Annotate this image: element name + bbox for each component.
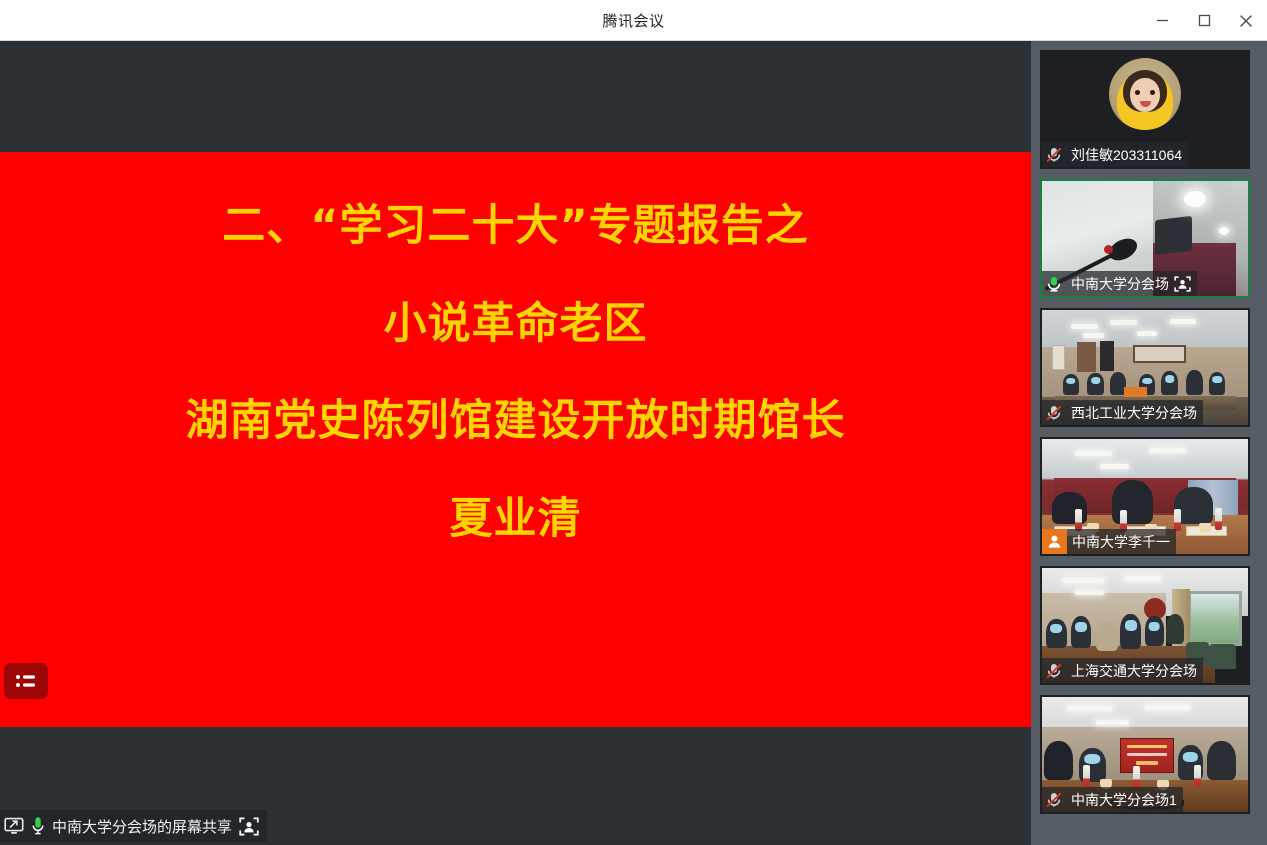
slide-line-1: 二、“学习二十大”专题报告之: [222, 204, 809, 250]
list-menu-icon: [15, 673, 37, 689]
mic-on-icon: [1042, 271, 1066, 296]
slide-line-2: 小说革命老区: [384, 302, 648, 348]
maximize-button[interactable]: [1183, 0, 1225, 41]
share-status-label: 中南大学分会场的屏幕共享: [52, 816, 232, 837]
person-badge-icon: [1042, 529, 1067, 554]
participant-tile[interactable]: 上海交通大学分会场: [1040, 566, 1250, 685]
close-button[interactable]: [1225, 0, 1267, 41]
participant-tile[interactable]: 中南大学分会场1: [1040, 695, 1250, 814]
participant-tile[interactable]: 西北工业大学分会场: [1040, 308, 1250, 427]
participant-name: 刘佳敏203311064: [1071, 145, 1182, 165]
mic-off-icon: [1042, 787, 1066, 812]
screen-share-icon: [4, 817, 24, 835]
participant-name-strip: 中南大学分会场1: [1042, 787, 1183, 812]
participant-name: 中南大学分会场: [1071, 274, 1169, 294]
avatar: [1109, 58, 1181, 130]
participant-name-strip: 上海交通大学分会场: [1042, 658, 1203, 683]
presenter-menu-button[interactable]: [4, 663, 48, 699]
participant-tile[interactable]: 刘佳敏203311064: [1040, 50, 1250, 169]
close-icon: [1239, 14, 1253, 28]
slide-text-block: 二、“学习二十大”专题报告之 小说革命老区 湖南党史陈列馆建设开放时期馆长 夏业…: [0, 204, 1031, 542]
participant-name-strip: 中南大学分会场: [1042, 271, 1197, 296]
screen-share-status-bar[interactable]: 中南大学分会场的屏幕共享: [0, 810, 267, 842]
mic-off-icon: [1042, 142, 1066, 167]
slide-line-4: 夏业清: [450, 497, 582, 543]
participant-name: 西北工业大学分会场: [1071, 403, 1197, 423]
participant-name: 上海交通大学分会场: [1071, 661, 1197, 681]
participant-name: 中南大学李千一: [1072, 532, 1170, 552]
participant-tile[interactable]: 中南大学李千一: [1040, 437, 1250, 556]
mic-on-icon: [31, 816, 45, 836]
window-controls: [1141, 0, 1267, 41]
minimize-button[interactable]: [1141, 0, 1183, 41]
participant-tile[interactable]: 中南大学分会场: [1040, 179, 1250, 298]
spotlight-person-icon[interactable]: [1174, 276, 1191, 292]
participant-name-strip: 中南大学李千一: [1042, 529, 1176, 554]
presentation-slide: 二、“学习二十大”专题报告之 小说革命老区 湖南党史陈列馆建设开放时期馆长 夏业…: [0, 152, 1031, 727]
maximize-icon: [1198, 14, 1211, 27]
shared-screen-stage[interactable]: 二、“学习二十大”专题报告之 小说革命老区 湖南党史陈列馆建设开放时期馆长 夏业…: [0, 41, 1031, 845]
tencent-meeting-window: 腾讯会议 二、“学习二十大”专题报告之 小说: [0, 0, 1267, 845]
participant-rail[interactable]: 刘佳敏203311064: [1031, 41, 1267, 845]
mic-off-icon: [1042, 400, 1066, 425]
participant-name-strip: 西北工业大学分会场: [1042, 400, 1203, 425]
participant-name: 中南大学分会场1: [1071, 790, 1177, 810]
participant-name-strip: 刘佳敏203311064: [1042, 142, 1188, 167]
mic-off-icon: [1042, 658, 1066, 683]
spotlight-person-icon[interactable]: [239, 817, 259, 836]
slide-line-3: 湖南党史陈列馆建设开放时期馆长: [186, 399, 846, 445]
window-title: 腾讯会议: [602, 10, 664, 31]
minimize-icon: [1156, 14, 1169, 27]
title-bar: 腾讯会议: [0, 0, 1267, 41]
